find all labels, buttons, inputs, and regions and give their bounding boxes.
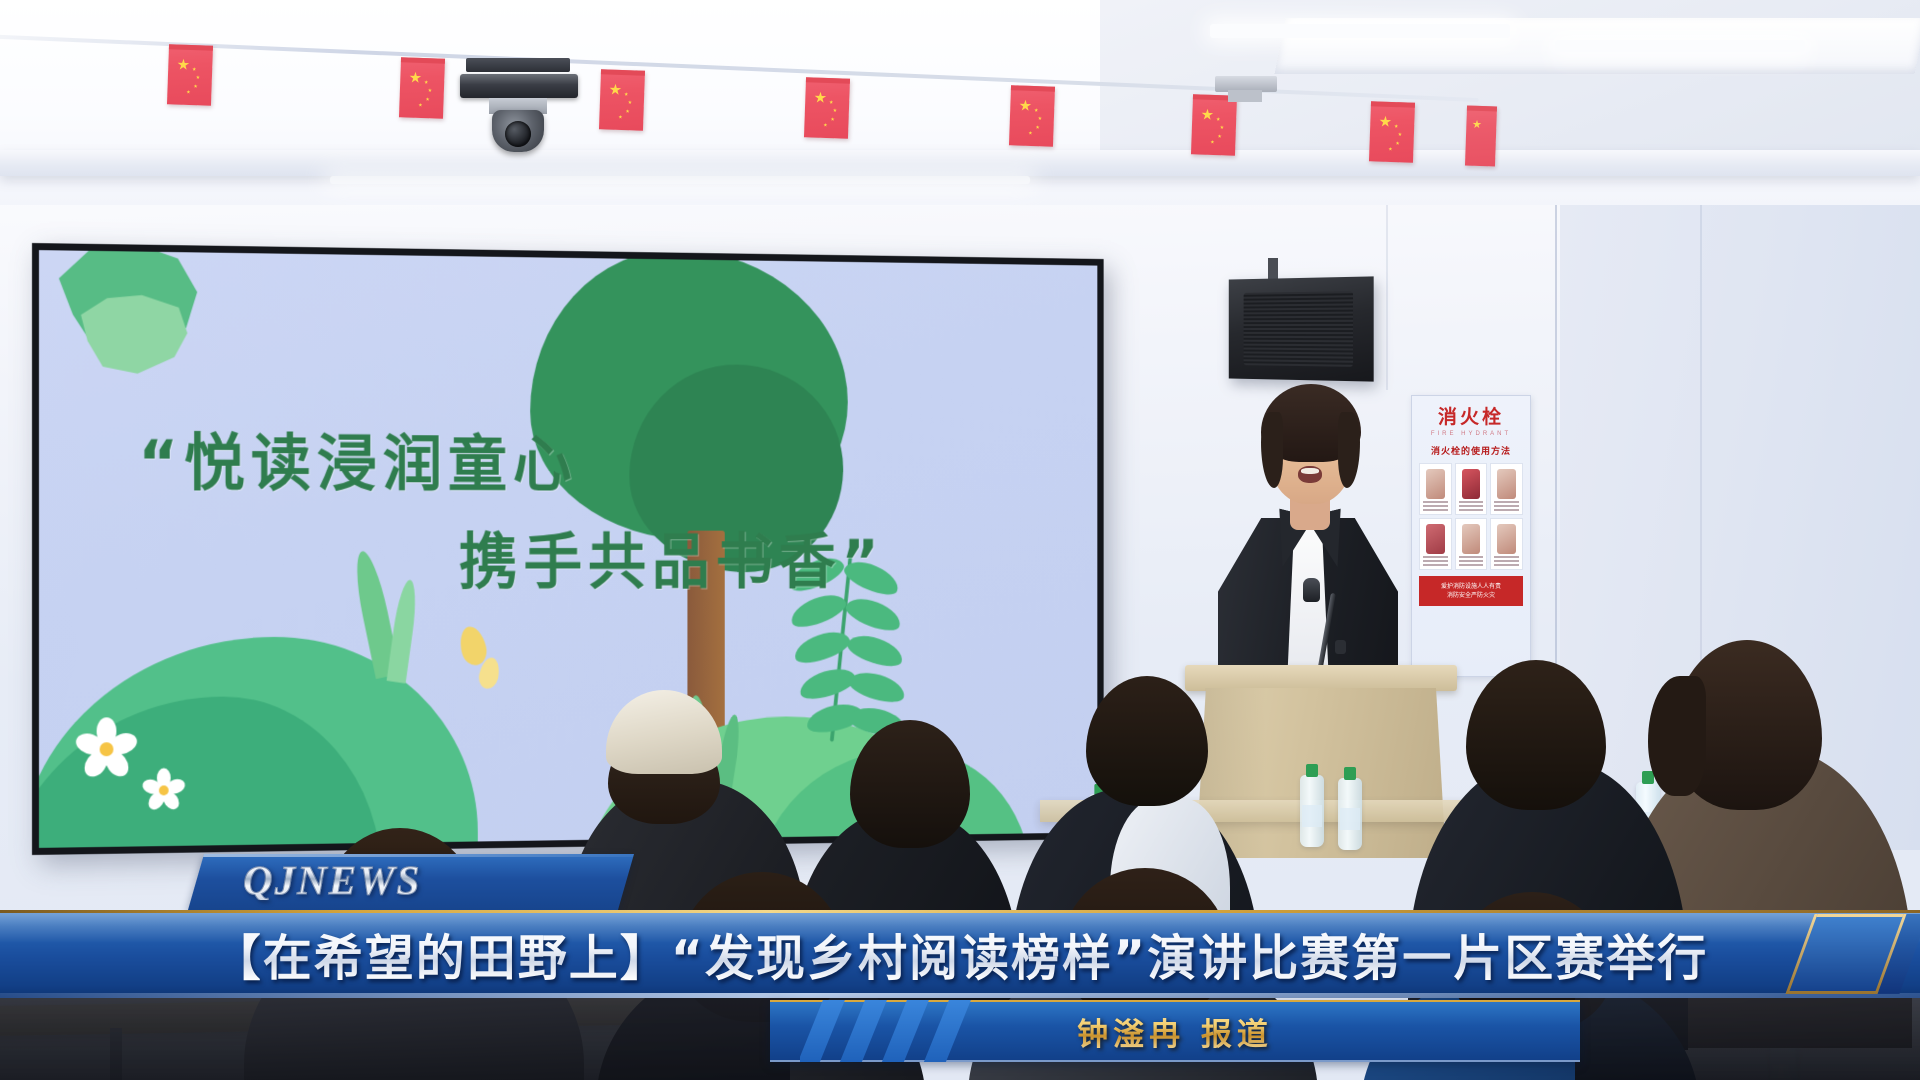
fire-hydrant-poster: 消火栓 FIRE HYDRANT 消火栓的使用方法 爱护消防设施人人有责 消防安… xyxy=(1411,395,1531,677)
lower-third-graphic: QJNEWS 【在希望的田野上】“发现乡村阅读榜样”演讲比赛第一片区赛举行 钟滏… xyxy=(0,830,1920,1080)
chinese-flag-icon xyxy=(1369,101,1415,162)
flower-decor xyxy=(143,769,184,811)
chinese-flag-icon xyxy=(1465,105,1497,166)
slide-line-1: “悦读浸润童心 xyxy=(138,413,577,504)
poster-subtitle: FIRE HYDRANT xyxy=(1419,431,1523,437)
chinese-flag-icon xyxy=(804,77,850,138)
poster-step-cell xyxy=(1455,463,1488,515)
poster-footer-line-2: 消防安全严防火灾 xyxy=(1447,592,1495,599)
poster-step-cell xyxy=(1490,463,1523,515)
poster-step-cell xyxy=(1419,463,1452,515)
chinese-flag-icon xyxy=(399,57,445,118)
slide-line-2: 携手共品书香” xyxy=(459,513,885,601)
ceiling-light xyxy=(1210,24,1510,38)
microphone-knob xyxy=(1335,640,1346,654)
headline-text: 【在希望的田野上】“发现乡村阅读榜样”演讲比赛第一片区赛举行 xyxy=(0,910,1920,998)
byline-text: 钟滏冉 报道 xyxy=(770,1000,1580,1062)
poster-step-cell xyxy=(1419,518,1452,570)
broadcast-frame: “悦读浸润童心 携手共品书香” 消火栓 FIRE HYDRANT 消火栓的使用方… xyxy=(0,0,1920,1080)
ceiling-beam xyxy=(0,150,1920,176)
chinese-flag-icon xyxy=(1191,94,1237,155)
speaker-mouth xyxy=(1298,466,1322,483)
poster-step-cell xyxy=(1455,518,1488,570)
wall-speaker-icon xyxy=(1229,276,1374,381)
poster-step-grid xyxy=(1419,463,1523,570)
poster-footer: 爱护消防设施人人有责 消防安全严防火灾 xyxy=(1419,576,1523,606)
ceiling-light xyxy=(330,176,1030,184)
chinese-flag-icon xyxy=(1009,85,1055,146)
podium-top xyxy=(1185,665,1457,691)
wall-seam xyxy=(1386,190,1388,390)
poster-section-heading: 消火栓的使用方法 xyxy=(1419,444,1523,457)
poster-step-cell xyxy=(1490,518,1523,570)
poster-footer-line-1: 爱护消防设施人人有责 xyxy=(1441,583,1501,590)
lt-backdrop-left xyxy=(0,998,790,1080)
flower-decor xyxy=(77,719,136,779)
microphone-head-icon xyxy=(1303,578,1320,602)
audience-ponytail xyxy=(1648,676,1706,796)
lt-backdrop-right xyxy=(1575,998,1920,1080)
poster-title: 消火栓 xyxy=(1419,402,1523,429)
ceiling-light xyxy=(1555,40,1805,52)
chinese-flag-icon xyxy=(167,44,213,105)
channel-logo: QJNEWS xyxy=(243,856,583,900)
chinese-flag-icon xyxy=(599,69,645,130)
projector-mount-stem xyxy=(1228,90,1262,102)
